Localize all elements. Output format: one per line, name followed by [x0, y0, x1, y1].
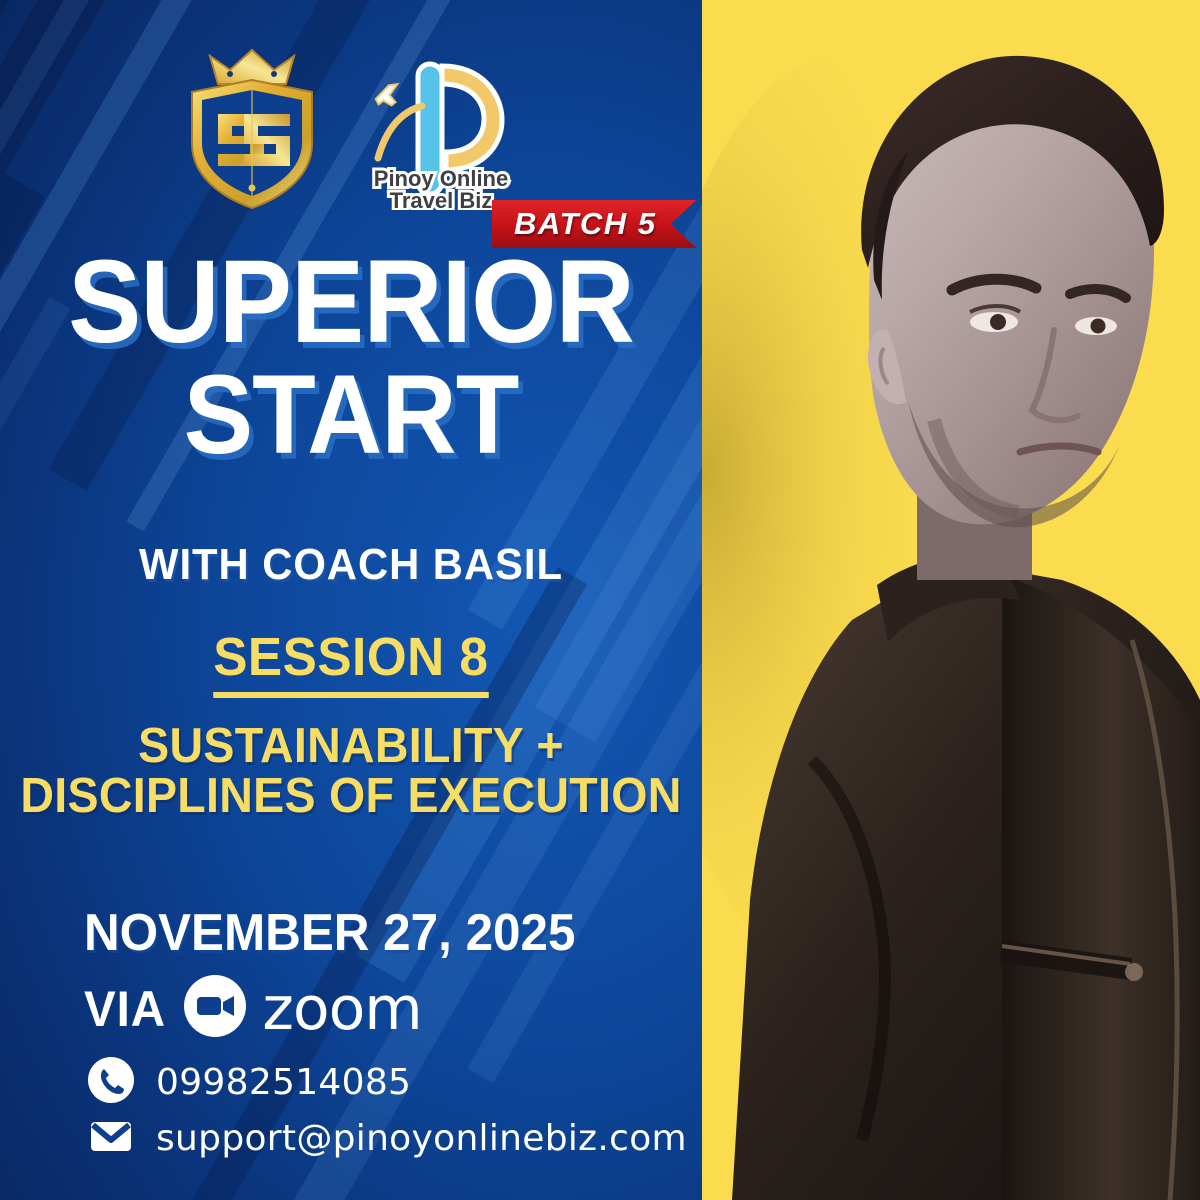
pinoy-online-travel-biz-logo: Pinoy Online Travel Biz [356, 50, 526, 210]
zoom-wordmark: zoom [262, 979, 421, 1039]
contact-phone-row: 09982514085 [88, 1058, 687, 1106]
yellow-background-panel [702, 0, 1200, 1200]
page-title: SUPERIOR START [0, 248, 702, 466]
potb-line2: Travel Biz [390, 188, 493, 210]
session-topic-line-1: SUSTAINABILITY + [138, 719, 564, 773]
coach-portrait-photo [702, 0, 1200, 1200]
contact-email-row: support@pinoyonlinebiz.com [88, 1114, 687, 1162]
platform-row: VIA zoom [84, 975, 422, 1042]
phone-icon [88, 1057, 134, 1108]
session-number-label: SESSION 8 [213, 626, 488, 698]
session-number: SESSION 8 [0, 626, 702, 698]
contact-email: support@pinoyonlinebiz.com [156, 1118, 687, 1159]
logo-row: Pinoy Online Travel Biz [178, 40, 538, 210]
superior-start-shield-logo [178, 48, 328, 213]
via-label: VIA [84, 980, 166, 1038]
zoom-camera-icon [184, 975, 246, 1042]
headline-line-2: START [25, 363, 678, 466]
envelope-icon [88, 1113, 134, 1164]
headline-line-1: SUPERIOR [25, 248, 678, 357]
promo-poster: Pinoy Online Travel Biz BATCH 5 SUPERIOR… [0, 0, 1200, 1200]
event-date: NOVEMBER 27, 2025 [84, 903, 575, 963]
session-topic-line-2: DISCIPLINES OF EXECUTION [18, 772, 685, 822]
session-topic: SUSTAINABILITY + DISCIPLINES OF EXECUTIO… [18, 722, 685, 822]
subtitle-with-coach: WITH COACH BASIL [18, 540, 685, 590]
contact-phone: 09982514085 [156, 1062, 411, 1103]
contact-block: 09982514085 support@pinoyonlinebiz.com [88, 1058, 687, 1162]
